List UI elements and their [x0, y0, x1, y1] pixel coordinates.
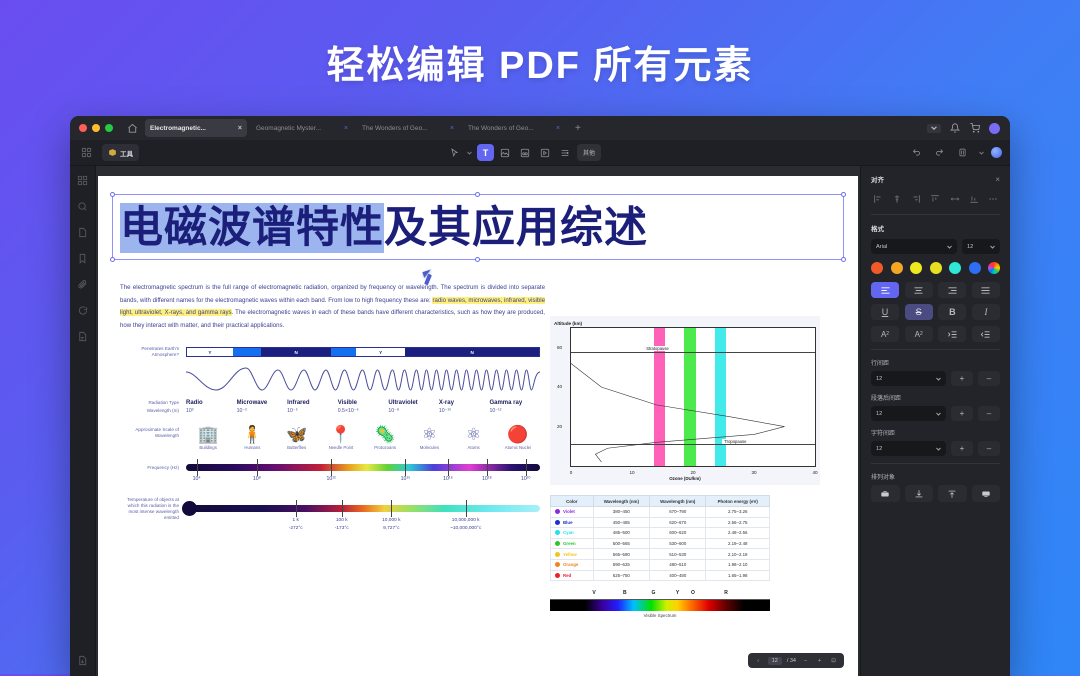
radiation-types: RadioMicrowaveInfraredVisibleUltraviolet…	[186, 400, 540, 406]
color-swatch[interactable]	[930, 262, 942, 274]
ozone-ytick: 60	[557, 345, 562, 350]
temperature-tick	[342, 500, 343, 517]
frequency-tick-label: 10¹⁸	[482, 476, 492, 482]
table-column-header: Photon energy (eV)	[706, 496, 770, 507]
ozone-xtick: 10	[629, 470, 634, 475]
align-top-button[interactable]	[929, 192, 942, 205]
indent-decrease-button[interactable]	[972, 326, 1000, 342]
table-cell: 670–790	[650, 507, 706, 518]
total-pages-label: / 34	[787, 658, 796, 664]
scale-label: Approximate Scale of Wavelength	[120, 427, 186, 439]
spectrum-letters: VBGYOR	[550, 589, 770, 600]
frequency-row: Frequency (Hz) 10⁴10⁸10¹²10¹⁵10¹⁶10¹⁸10²…	[120, 464, 540, 471]
temperature-row: Temperature of objects at which this rad…	[120, 497, 540, 521]
right-figures-column: Altitude (km) StratopauseTropopause20406…	[550, 316, 820, 618]
radiation-type: Gamma ray	[489, 400, 540, 406]
line-spacing-decrease[interactable]: –	[978, 371, 1000, 386]
bring-forward-button[interactable]	[938, 485, 967, 502]
table-cell: 380–450	[593, 507, 649, 518]
spectrum-letter: G	[651, 590, 655, 596]
search-icon[interactable]	[75, 199, 90, 214]
table-cell: 510–530	[650, 549, 706, 560]
chevron-down-icon[interactable]	[927, 124, 941, 133]
font-size-select[interactable]: 12	[962, 239, 1000, 254]
zoom-out-button[interactable]: –	[801, 656, 810, 665]
para-spacing-control: 12 + –	[871, 406, 1000, 421]
wavelength-values: 10³10⁻²10⁻⁵0.5×10⁻⁶10⁻⁸10⁻¹⁰10⁻¹²	[186, 408, 540, 414]
chevron-down-icon[interactable]	[977, 144, 985, 161]
user-avatar[interactable]	[989, 123, 1000, 134]
current-page-input[interactable]: 12	[768, 657, 782, 665]
scale-item: ⚛Atoms	[452, 426, 496, 450]
table-row: Cyan485–500600–6202.48–2.56	[551, 528, 770, 539]
undo-button[interactable]	[908, 144, 925, 161]
frequency-tick-label: 10²⁰	[521, 476, 531, 482]
frequency-tick	[257, 459, 258, 476]
temperature-tick	[391, 500, 392, 517]
table-column-header: Wavelength (nm)	[593, 496, 649, 507]
signature-icon[interactable]	[75, 329, 90, 344]
radiation-type: Infrared	[287, 400, 338, 406]
table-cell: 450–485	[593, 517, 649, 528]
indent-increase-button[interactable]	[938, 326, 966, 342]
cart-icon[interactable]	[969, 122, 981, 134]
spectrum-letter: B	[623, 590, 627, 596]
resize-handle[interactable]	[110, 192, 115, 197]
spectrum-letter: O	[691, 590, 695, 596]
wavelength-value: 10⁻¹²	[489, 408, 540, 414]
wave-row	[120, 360, 540, 398]
resize-handle[interactable]	[841, 192, 846, 197]
tab-label: The Wonders of Geo...	[362, 125, 428, 132]
temperature-tick-label: 10,000 k9,727°c	[382, 517, 400, 531]
script-row: A2 A2	[871, 326, 1000, 342]
scale-item: 🦠Protozoans	[363, 426, 407, 450]
ozone-ytick: 20	[557, 424, 562, 429]
window-actions	[927, 122, 1004, 134]
scale-item-caption: Molecules	[420, 445, 439, 450]
table-cell: 620–670	[650, 517, 706, 528]
table-row: Red625–750400–4801.65–1.98	[551, 570, 770, 581]
attachment-icon[interactable]	[75, 277, 90, 292]
em-spectrum-figure: Penetrates Earth's Atmosphere? YNYN Radi…	[120, 346, 540, 521]
shape-tool[interactable]	[537, 144, 554, 161]
line-spacing-number: 12	[876, 376, 882, 382]
page-controls: ‹ 12 / 34 – + ⊡	[748, 653, 844, 668]
send-back-button[interactable]	[905, 485, 934, 502]
app-window: Electromagnetic... × Geomagnetic Myster.…	[70, 116, 1010, 676]
scale-items: 🏢Buildings🧍Humans🦋Butterflies📍Needle Poi…	[186, 416, 540, 450]
pdf-page[interactable]: 电磁波谱特性及其应用综述 The electromagnetic spectru…	[98, 176, 858, 676]
table-row: Orange590–625480–5101.98–2.10	[551, 559, 770, 570]
toolbar-right-actions	[908, 144, 1002, 161]
comment-icon[interactable]	[75, 303, 90, 318]
bell-icon[interactable]	[949, 122, 961, 134]
text-style-row: U S B I	[871, 304, 1000, 320]
close-icon[interactable]: ×	[556, 125, 560, 132]
new-tab-button[interactable]: +	[569, 123, 587, 134]
color-name-cell: Cyan	[551, 528, 594, 539]
list-tool[interactable]	[557, 144, 574, 161]
table-cell: 400–480	[650, 570, 706, 581]
table-row: Yellow565–590510–5302.10–2.19	[551, 549, 770, 560]
color-table: ColorWavelength (nm)Wavelength (nm)Photo…	[550, 495, 770, 581]
arrange-label: 排列对象	[871, 472, 1000, 481]
resize-handle[interactable]	[475, 192, 480, 197]
table-cell: 1.98–2.10	[706, 559, 770, 570]
spectrum-letter: R	[724, 590, 728, 596]
spectrum-letter: V	[592, 590, 595, 596]
line-spacing-label: 行间距	[871, 358, 1000, 367]
wavelength-value: 0.5×10⁻⁶	[338, 408, 389, 414]
scale-item-icon: ⚛	[422, 426, 437, 443]
para-spacing-value[interactable]: 12	[871, 406, 946, 421]
paragraph-align-row	[871, 282, 1000, 298]
table-cell: 600–620	[650, 528, 706, 539]
superscript-button[interactable]: A2	[871, 326, 899, 342]
window-traffic-lights	[76, 124, 119, 132]
distribute-h-button[interactable]	[948, 192, 961, 205]
para-spacing-number: 12	[876, 411, 882, 417]
align-section-header: 对齐 ×	[871, 174, 1000, 184]
table-cell: 480–510	[650, 559, 706, 570]
font-family-value: Arial	[876, 244, 887, 250]
scale-item-caption: Buildings	[199, 445, 216, 450]
frequency-tick-label: 10¹²	[327, 476, 336, 482]
color-name-cell: Violet	[551, 507, 594, 518]
tab-label: Geomagnetic Myster...	[256, 125, 321, 132]
frequency-tick	[448, 459, 449, 476]
char-spacing-increase[interactable]: +	[951, 441, 973, 456]
ozone-chart: Altitude (km) StratopauseTropopause20406…	[550, 316, 820, 485]
close-icon[interactable]: ×	[238, 125, 242, 132]
line-spacing-value[interactable]: 12	[871, 371, 946, 386]
tab-1[interactable]: Geomagnetic Myster... ×	[251, 119, 353, 137]
radiation-type-row: Radiation Type RadioMicrowaveInfraredVis…	[120, 400, 540, 406]
atmosphere-row: Penetrates Earth's Atmosphere? YNYN	[120, 346, 540, 358]
table-cell: 625–750	[593, 570, 649, 581]
underline-button[interactable]: U	[871, 304, 899, 320]
chevron-down-icon[interactable]	[466, 144, 474, 161]
frequency-tick-label: 10¹⁶	[443, 476, 453, 482]
document-canvas[interactable]: 电磁波谱特性及其应用综述 The electromagnetic spectru…	[96, 166, 860, 676]
atmosphere-band: N	[405, 348, 539, 356]
tab-0[interactable]: Electromagnetic... ×	[145, 119, 247, 137]
close-icon[interactable]: ×	[344, 125, 348, 132]
wavelength-value: 10⁻⁸	[388, 408, 439, 414]
wavelength-row: Wavelength (m) 10³10⁻²10⁻⁵0.5×10⁻⁶10⁻⁸10…	[120, 408, 540, 414]
color-wheel-button[interactable]	[988, 262, 1000, 274]
maximize-window-button[interactable]	[105, 124, 113, 132]
char-spacing-label: 字符间距	[871, 428, 1000, 437]
temperature-tick	[466, 500, 467, 517]
frequency-tick-label: 10⁴	[193, 476, 201, 482]
arrange-buttons	[871, 485, 1000, 502]
color-swatch[interactable]	[910, 262, 922, 274]
temperature-tick-label: 10,000,000 k~10,000,000°c	[450, 517, 481, 531]
table-cell: 530–600	[650, 538, 706, 549]
table-cell: 2.19–2.48	[706, 538, 770, 549]
align-text-left-button[interactable]	[871, 282, 899, 298]
font-family-select[interactable]: Arial	[871, 239, 957, 254]
resize-handle[interactable]	[841, 257, 846, 262]
spectrum-gradient	[550, 600, 770, 611]
image-tool[interactable]	[497, 144, 514, 161]
ozone-plot-area: StratopauseTropopause204060010203040	[570, 327, 816, 467]
export-icon[interactable]	[75, 653, 90, 668]
resize-handle[interactable]	[110, 257, 115, 262]
frequency-tick	[331, 459, 332, 476]
temperature-bar: 1 k-272°c100 k-173°c10,000 k9,727°c10,00…	[186, 505, 540, 512]
close-icon[interactable]: ×	[995, 175, 1000, 184]
radiation-type-label: Radiation Type	[120, 400, 186, 406]
left-sidebar	[70, 166, 96, 676]
atmosphere-band	[233, 348, 261, 356]
frequency-label: Frequency (Hz)	[120, 465, 186, 471]
atmosphere-band: N	[261, 348, 331, 356]
format-title: 格式	[871, 223, 1000, 233]
radiation-type: Visible	[338, 400, 389, 406]
align-right-button[interactable]	[910, 192, 923, 205]
scale-item-caption: Atomic Nuclei	[505, 445, 531, 450]
home-icon[interactable]	[123, 119, 141, 137]
line-spacing-control: 12 + –	[871, 371, 1000, 386]
temperature-tick	[296, 500, 297, 517]
scale-item-caption: Protozoans	[374, 445, 396, 450]
scale-row: Approximate Scale of Wavelength 🏢Buildin…	[120, 416, 540, 450]
scale-item: 🏢Buildings	[186, 426, 230, 450]
align-bottom-button[interactable]	[968, 192, 981, 205]
fit-page-button[interactable]: ⊡	[829, 656, 838, 665]
subscript-button[interactable]: A2	[905, 326, 933, 342]
tab-label: The Wonders of Geo...	[468, 125, 534, 132]
justify-text-button[interactable]	[972, 282, 1000, 298]
wavelength-label: Wavelength (m)	[120, 408, 186, 414]
frequency-tick	[487, 459, 488, 476]
scale-item-icon: ⚛	[466, 426, 481, 443]
tab-3[interactable]: The Wonders of Geo... ×	[463, 119, 565, 137]
scale-item-icon: 🧍	[242, 426, 263, 443]
wavelength-value: 10³	[186, 408, 237, 414]
title-remainder: 及其应用综述	[384, 203, 648, 253]
strikethrough-button[interactable]: S	[905, 304, 933, 320]
ozone-ylabel: Altitude (km)	[554, 321, 816, 326]
color-name-cell: Green	[551, 538, 594, 549]
font-controls: Arial 12	[871, 239, 1000, 254]
table-cell: 1.65–1.98	[706, 570, 770, 581]
color-name-cell: Red	[551, 570, 594, 581]
table-cell: 2.56–2.75	[706, 517, 770, 528]
ozone-xtick: 20	[690, 470, 695, 475]
tab-label: Electromagnetic...	[150, 125, 206, 132]
thumbnails-icon[interactable]	[75, 173, 90, 188]
select-tool[interactable]	[446, 144, 463, 161]
spectrum-letter: Y	[676, 590, 679, 596]
scale-item: 📍Needle Point	[319, 426, 363, 450]
table-cell: 485–500	[593, 528, 649, 539]
frequency-bar: 10⁴10⁸10¹²10¹⁵10¹⁶10¹⁸10²⁰	[186, 464, 540, 471]
main-toolbar: 工具 T 其他	[70, 140, 1010, 166]
temperature-tick-label: 1 k-272°c	[289, 517, 303, 531]
table-column-header: Wavelength (nm)	[650, 496, 706, 507]
color-swatches	[871, 262, 1000, 274]
temperature-tick-label: 100 k-173°c	[335, 517, 349, 531]
radiation-type: X-ray	[439, 400, 490, 406]
scale-item-icon: 📍	[330, 426, 351, 443]
scale-item: ⚛Molecules	[407, 426, 451, 450]
scale-item-caption: Humans	[244, 445, 260, 450]
more-options-button[interactable]	[987, 192, 1000, 205]
table-cell: 2.48–2.56	[706, 528, 770, 539]
send-backward-button[interactable]	[972, 485, 1001, 502]
align-title: 对齐	[871, 174, 884, 184]
font-size-value: 12	[967, 244, 973, 250]
table-row: Violet380–450670–7902.75–3.26	[551, 507, 770, 518]
scale-item: 🦋Butterflies	[275, 426, 319, 450]
atmosphere-bands: YNYN	[186, 347, 540, 357]
char-spacing-control: 12 + –	[871, 441, 1000, 456]
atmosphere-band: Y	[187, 348, 233, 356]
waveform-graphic	[186, 360, 540, 398]
tab-bar: Electromagnetic... × Geomagnetic Myster.…	[70, 116, 1010, 140]
ai-assistant-button[interactable]	[991, 147, 1002, 158]
table-cell: 2.10–2.19	[706, 549, 770, 560]
wavelength-value: 10⁻²	[237, 408, 288, 414]
table-cell: 500–565	[593, 538, 649, 549]
text-tool[interactable]: T	[477, 144, 494, 161]
page-settings-icon[interactable]	[954, 144, 971, 161]
ozone-xlabel: Ozone (DU/km)	[554, 476, 816, 481]
frequency-tick	[405, 459, 406, 476]
selected-title-text: 电磁波谱特性	[120, 203, 384, 253]
minimize-window-button[interactable]	[92, 124, 100, 132]
para-spacing-increase[interactable]: +	[951, 406, 973, 421]
color-name-cell: Yellow	[551, 549, 594, 560]
scale-item: 🧍Humans	[230, 426, 274, 450]
table-cell: 590–625	[593, 559, 649, 570]
tools-label: 工具	[120, 148, 133, 158]
line-spacing-increase[interactable]: +	[951, 371, 973, 386]
scale-item-caption: Butterflies	[287, 445, 306, 450]
bookmark-icon[interactable]	[75, 251, 90, 266]
atmosphere-band: Y	[356, 348, 405, 356]
table-cell: 565–590	[593, 549, 649, 560]
ozone-ytick: 40	[557, 384, 562, 389]
tool-group: T 其他	[139, 144, 908, 161]
char-spacing-value[interactable]: 12	[871, 441, 946, 456]
frequency-tick-label: 10⁸	[253, 476, 261, 482]
visible-spectrum-figure: VBGYOR Visible Spectrum	[550, 589, 770, 618]
ozone-xtick: 30	[751, 470, 756, 475]
resize-handle[interactable]	[475, 257, 480, 262]
more-tools-button[interactable]: 其他	[577, 144, 601, 161]
stamp-tool[interactable]	[517, 144, 534, 161]
wavelength-value: 10⁻⁵	[287, 408, 338, 414]
italic-button[interactable]: I	[972, 304, 1000, 320]
scale-item-icon: 🦋	[286, 426, 307, 443]
align-text-center-button[interactable]	[905, 282, 933, 298]
document-title[interactable]: 电磁波谱特性及其应用综述	[120, 204, 836, 252]
atmosphere-label: Penetrates Earth's Atmosphere?	[120, 346, 186, 358]
color-swatch[interactable]	[969, 262, 981, 274]
format-panel: 对齐 × 格式 Arial 12	[860, 166, 1010, 676]
radiation-type: Ultraviolet	[388, 400, 439, 406]
scale-item-icon: 🦠	[375, 426, 396, 443]
page-title: 轻松编辑 PDF 所有元素	[0, 34, 1080, 89]
tools-button[interactable]: 工具	[102, 144, 139, 161]
redo-button[interactable]	[931, 144, 948, 161]
wavelength-value: 10⁻¹⁰	[439, 408, 490, 414]
radiation-type: Radio	[186, 400, 237, 406]
close-icon[interactable]: ×	[450, 125, 454, 132]
ozone-profile-curve	[571, 328, 815, 466]
page-icon[interactable]	[75, 225, 90, 240]
color-swatch[interactable]	[949, 262, 961, 274]
temperature-label: Temperature of objects at which this rad…	[120, 497, 186, 521]
align-buttons-row	[871, 192, 1000, 205]
document-paragraph[interactable]: The electromagnetic spectrum is the full…	[120, 282, 545, 332]
title-selection-frame[interactable]: 电磁波谱特性及其应用综述	[120, 204, 836, 252]
zoom-in-button[interactable]: +	[815, 656, 824, 665]
table-header-row: ColorWavelength (nm)Wavelength (nm)Photo…	[551, 496, 770, 507]
scale-item-caption: Needle Point	[329, 445, 354, 450]
spectrum-caption: Visible Spectrum	[550, 613, 770, 618]
scale-item-caption: Atoms	[468, 445, 480, 450]
para-spacing-decrease[interactable]: –	[978, 406, 1000, 421]
ozone-xtick: 0	[570, 470, 573, 475]
align-left-button[interactable]	[871, 192, 884, 205]
tab-2[interactable]: The Wonders of Geo... ×	[357, 119, 459, 137]
bring-front-button[interactable]	[871, 485, 900, 502]
frequency-tick	[197, 459, 198, 476]
ozone-xtick: 40	[812, 470, 817, 475]
scale-item-icon: 🏢	[198, 426, 219, 443]
table-column-header: Color	[551, 496, 594, 507]
frequency-tick-label: 10¹⁵	[401, 476, 411, 482]
color-swatch[interactable]	[871, 262, 883, 274]
table-cell: 2.75–3.26	[706, 507, 770, 518]
align-center-h-button[interactable]	[890, 192, 903, 205]
table-row: Green500–565530–6002.19–2.48	[551, 538, 770, 549]
frequency-tick	[526, 459, 527, 476]
atmosphere-band	[331, 348, 356, 356]
scale-item-icon: 🔴	[507, 426, 528, 443]
radiation-type: Microwave	[237, 400, 288, 406]
char-spacing-decrease[interactable]: –	[978, 441, 1000, 456]
char-spacing-number: 12	[876, 446, 882, 452]
para-spacing-label: 段落后间距	[871, 393, 1000, 402]
scale-item: 🔴Atomic Nuclei	[496, 426, 540, 450]
apps-grid-icon[interactable]	[78, 145, 94, 161]
color-name-cell: Orange	[551, 559, 594, 570]
color-swatch[interactable]	[891, 262, 903, 274]
align-text-right-button[interactable]	[938, 282, 966, 298]
bold-button[interactable]: B	[938, 304, 966, 320]
table-row: Blue450–485620–6702.56–2.75	[551, 517, 770, 528]
close-window-button[interactable]	[79, 124, 87, 132]
prev-page-button[interactable]: ‹	[754, 656, 763, 665]
color-name-cell: Blue	[551, 517, 594, 528]
